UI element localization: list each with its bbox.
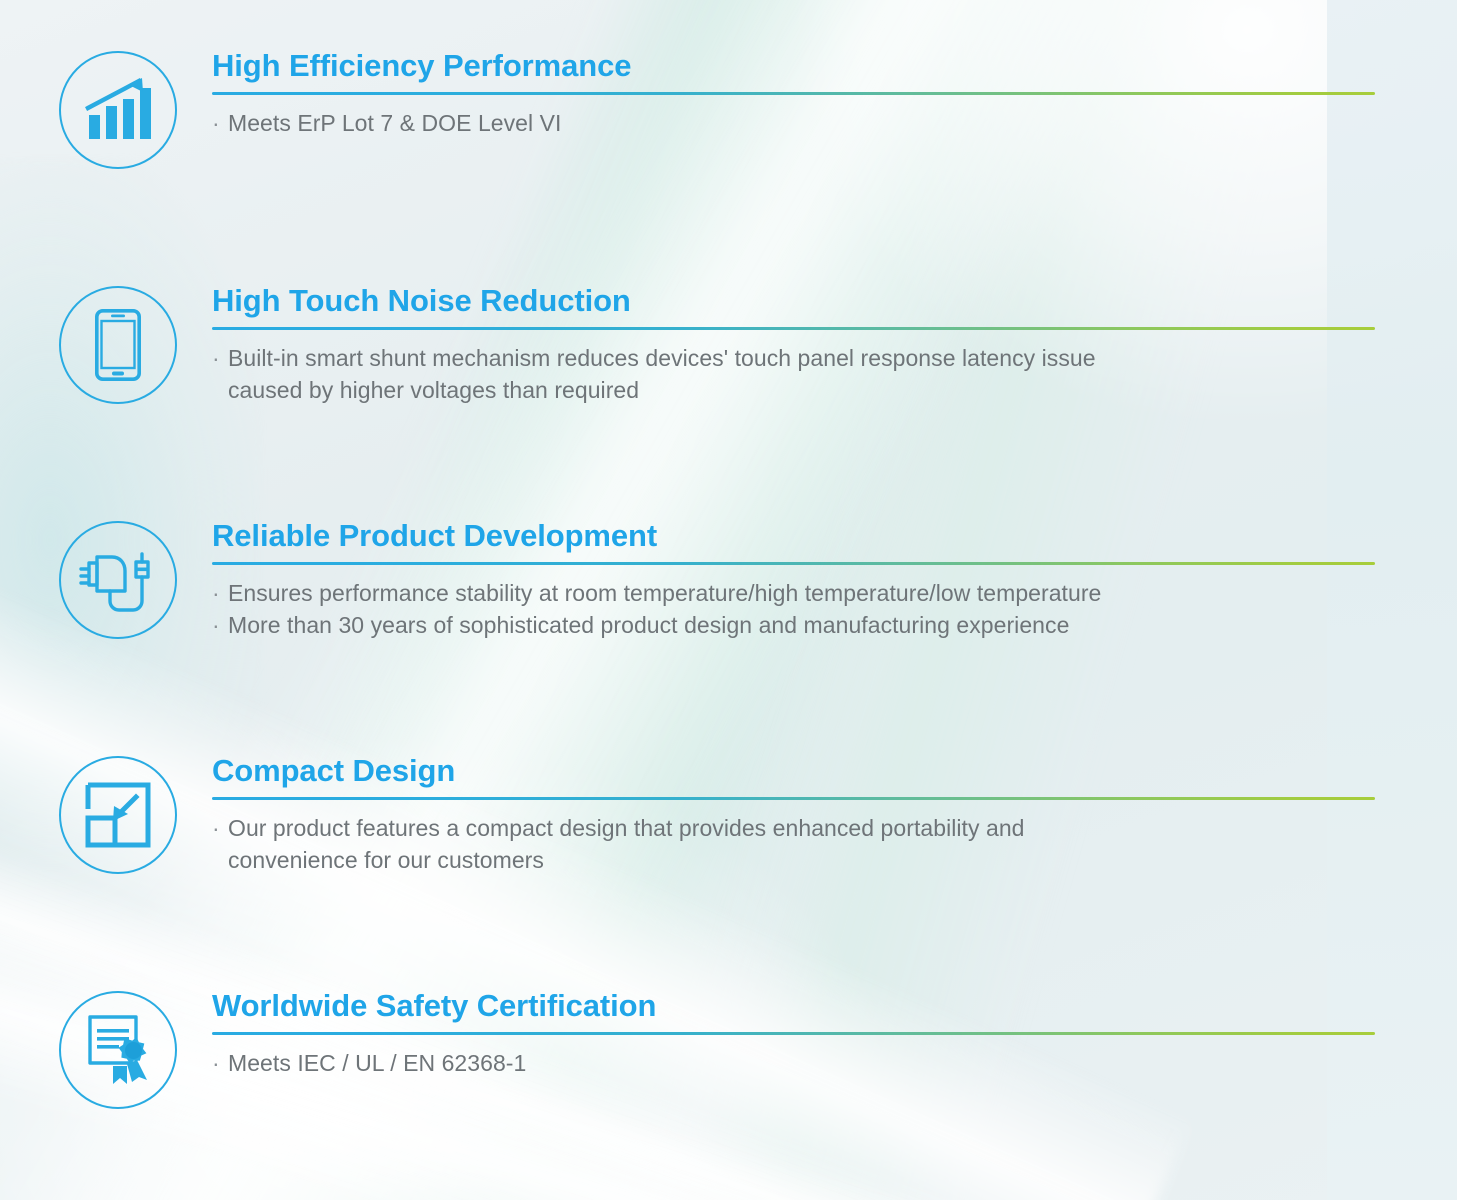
bullet-marker: · [212, 609, 228, 642]
bullet-line: ·Built-in smart shunt mechanism reduces … [212, 342, 1377, 375]
compact-resize-icon [59, 756, 177, 874]
feature-content: Worldwide Safety Certification ·Meets IE… [212, 990, 1377, 1079]
feature-content: High Efficiency Performance ·Meets ErP L… [212, 50, 1377, 139]
feature-divider [212, 327, 1375, 330]
bar-chart-growth-icon [59, 51, 177, 169]
feature-title: High Touch Noise Reduction [212, 285, 1377, 318]
feature-divider [212, 1032, 1375, 1035]
bullet-marker: · [212, 342, 228, 375]
feature-divider [212, 797, 1375, 800]
certificate-seal-icon [59, 991, 177, 1109]
bullet-line: ·Ensures performance stability at room t… [212, 577, 1377, 610]
feature-divider [212, 562, 1375, 565]
bullet-marker: · [212, 812, 228, 845]
feature-icon-wrapper [58, 990, 178, 1110]
bullet-marker: · [212, 107, 228, 140]
feature-bullets: ·Ensures performance stability at room t… [212, 577, 1377, 642]
feature-content: Reliable Product Development ·Ensures pe… [212, 520, 1377, 642]
bullet-marker: · [212, 577, 228, 610]
smartphone-icon [59, 286, 177, 404]
feature-content: High Touch Noise Reduction ·Built-in sma… [212, 285, 1377, 407]
bullet-text: Meets ErP Lot 7 & DOE Level VI [228, 110, 561, 136]
feature-content: Compact Design ·Our product features a c… [212, 755, 1377, 877]
bullet-text: More than 30 years of sophisticated prod… [228, 612, 1069, 638]
bullet-line: ·More than 30 years of sophisticated pro… [212, 609, 1377, 642]
feature-icon-wrapper [58, 285, 178, 405]
feature-icon-wrapper [58, 755, 178, 875]
bullet-line: ·Meets IEC / UL / EN 62368-1 [212, 1047, 1377, 1080]
feature-title: Reliable Product Development [212, 520, 1377, 553]
feature-icon-wrapper [58, 520, 178, 640]
bullet-text: Meets IEC / UL / EN 62368-1 [228, 1050, 526, 1076]
bullet-line: ·Meets ErP Lot 7 & DOE Level VI [212, 107, 1377, 140]
feature-bullets: ·Meets IEC / UL / EN 62368-1 [212, 1047, 1377, 1080]
feature-title: Worldwide Safety Certification [212, 990, 1377, 1023]
feature-bullets: ·Meets ErP Lot 7 & DOE Level VI [212, 107, 1377, 140]
bullet-marker: · [212, 1047, 228, 1080]
bullet-text: Ensures performance stability at room te… [228, 580, 1101, 606]
power-adapter-icon [59, 521, 177, 639]
feature-list: High Efficiency Performance ·Meets ErP L… [0, 0, 1457, 1200]
bullet-line: ·Our product features a compact design t… [212, 812, 1377, 845]
bullet-line-continued: convenience for our customers [212, 844, 1377, 877]
feature-bullets: ·Our product features a compact design t… [212, 812, 1377, 877]
feature-title: High Efficiency Performance [212, 50, 1377, 83]
bullet-text: Built-in smart shunt mechanism reduces d… [228, 345, 1096, 371]
feature-title: Compact Design [212, 755, 1377, 788]
feature-bullets: ·Built-in smart shunt mechanism reduces … [212, 342, 1377, 407]
bullet-line-continued: caused by higher voltages than required [212, 374, 1377, 407]
feature-icon-wrapper [58, 50, 178, 170]
bullet-text: Our product features a compact design th… [228, 815, 1025, 841]
feature-divider [212, 92, 1375, 95]
